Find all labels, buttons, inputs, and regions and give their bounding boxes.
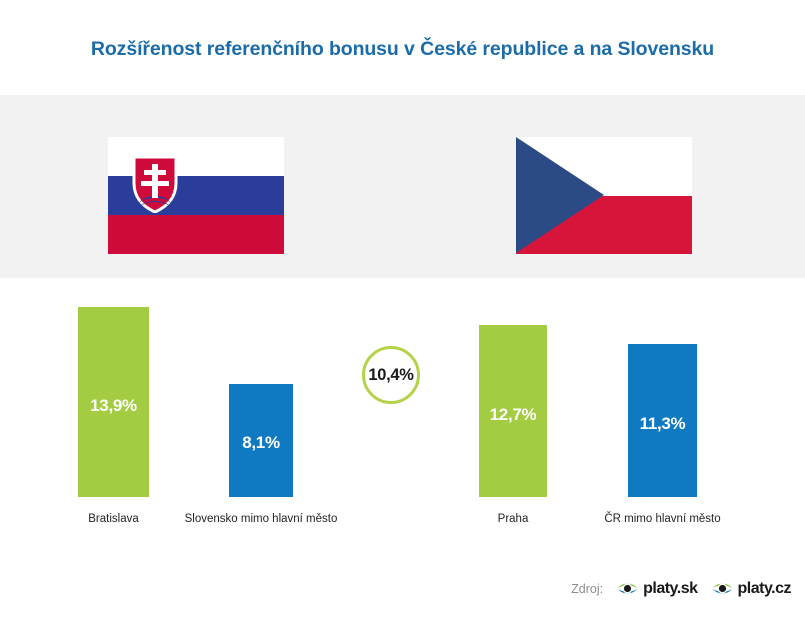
flag-blue-wedge [516,137,604,253]
bar-label-slovensko-mimo: Slovensko mimo hlavní město [181,513,341,525]
logo-platy-cz[interactable]: platy.cz [712,578,792,599]
bar-cr-mimo: 11,3% [628,344,697,497]
page-title: Rozšířenost referenčního bonusu v České … [0,38,805,61]
bar-label-praha: Praha [479,513,547,525]
bar-praha: 12,7% [479,325,547,497]
source-label: Zdroj: [571,582,603,596]
logo-platy-sk[interactable]: platy.sk [617,578,697,599]
slovakia-coat-of-arms-icon [132,155,178,213]
bar-value-bratislava: 13,9% [78,396,149,416]
czech-republic-flag: 11,8% [516,137,692,254]
status-badge-slovakia: 10,4% [362,346,420,404]
eye-icon [617,578,638,599]
flag-stripe-red [108,215,284,254]
slovakia-flag: 10,4% [108,137,284,254]
bar-slovensko-mimo: 8,1% [229,384,293,497]
bar-value-slovensko-mimo: 8,1% [229,433,293,453]
bar-label-bratislava: Bratislava [78,513,149,525]
flags-band: 10,4% 11,8% [0,95,805,278]
footer: Zdroj: platy.sk platy.cz [0,578,805,608]
bar-label-cr-mimo: ČR mimo hlavní město [595,513,730,525]
czech-flag-graphic [516,137,692,254]
bar-bratislava: 13,9% [78,307,149,497]
slovakia-flag-graphic [108,137,284,254]
infographic-root: Rozšířenost referenčního bonusu v České … [0,0,805,621]
logo-platy-cz-text: platy.cz [738,580,792,598]
bar-value-praha: 12,7% [479,405,547,425]
logo-platy-sk-text: platy.sk [643,580,697,598]
bar-value-cr-mimo: 11,3% [628,414,697,434]
eye-icon [712,578,733,599]
